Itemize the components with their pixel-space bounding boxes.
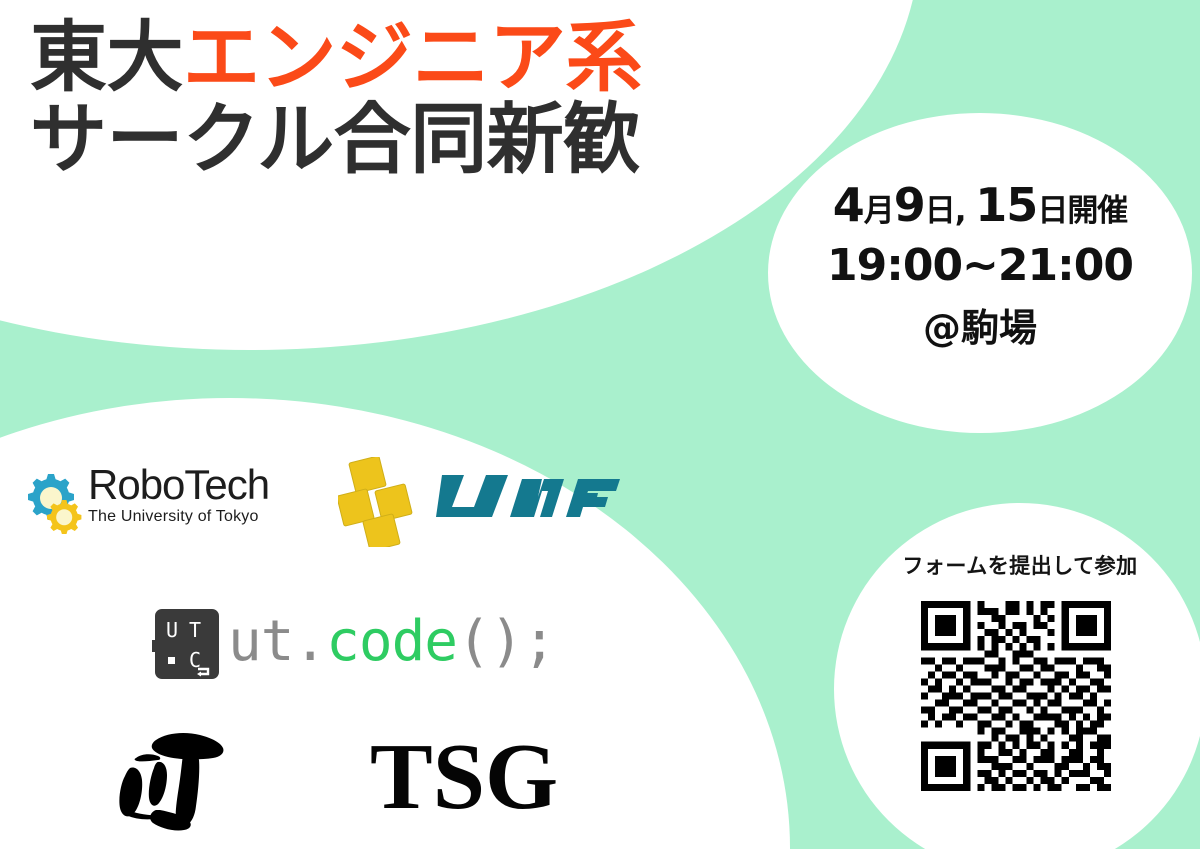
robotech-text: RoboTech The University of Tokyo <box>88 464 303 525</box>
two-gears-icon <box>22 470 86 534</box>
event-date-suffix: 開催 <box>1067 193 1127 229</box>
page-title: 東大エンジニア系 サークル合同新歓 <box>30 18 710 181</box>
event-date-month-unit: 月 <box>864 193 894 229</box>
page-title-line-1: 東大エンジニア系 <box>30 18 710 100</box>
four-tilted-squares-icon <box>338 457 424 547</box>
qr-code[interactable] <box>921 601 1111 791</box>
event-details: 4月9日, 15日開催 19:00~21:00 @駒場 <box>770 180 1190 352</box>
logo-umf[interactable] <box>338 457 623 547</box>
event-date-line: 4月9日, 15日開催 <box>770 180 1190 232</box>
logo-brush-kanji[interactable] <box>100 724 232 836</box>
brush-kanji-icon <box>100 724 232 836</box>
background-edge-strip-left <box>0 0 5 310</box>
logo-tsg[interactable]: TSG <box>370 727 600 827</box>
page-title-accent: エンジニア系 <box>183 14 642 103</box>
event-date-month: 4 <box>833 178 864 232</box>
event-date-day2-unit: 日 <box>1037 193 1067 229</box>
utc-letter-u: U <box>166 618 178 642</box>
utcode-wordmark: ut.code(); <box>228 604 555 680</box>
signup-caption: フォームを提出して参加 <box>860 550 1180 580</box>
event-date-day1: 9 <box>894 178 925 232</box>
event-venue: @駒場 <box>770 297 1190 352</box>
robotech-name: RoboTech <box>88 464 303 506</box>
event-date-separator: , <box>955 193 976 229</box>
qr-code-icon <box>921 601 1111 791</box>
logo-robotech[interactable]: RoboTech The University of Tokyo <box>18 462 288 542</box>
umf-wordmark-icon <box>430 469 620 525</box>
logo-utcode[interactable]: U T C ut.code(); <box>152 604 552 684</box>
event-date-day1-unit: 日 <box>925 193 955 229</box>
poster-root: 東大エンジニア系 サークル合同新歓 4月9日, 15日開催 19:00~21:0… <box>0 0 1200 849</box>
event-time: 19:00~21:00 <box>770 240 1190 291</box>
utc-square-mark-icon: U T C <box>152 607 220 681</box>
utcode-suffix: (); <box>457 609 555 674</box>
utcode-prefix: ut. <box>228 609 326 674</box>
page-title-line-2: サークル合同新歓 <box>30 100 710 182</box>
page-title-prefix: 東大 <box>30 14 183 103</box>
utcode-accent: code <box>326 609 457 674</box>
utc-letter-t: T <box>189 618 201 642</box>
event-date-day2: 15 <box>975 178 1037 232</box>
robotech-subtitle: The University of Tokyo <box>88 509 303 525</box>
